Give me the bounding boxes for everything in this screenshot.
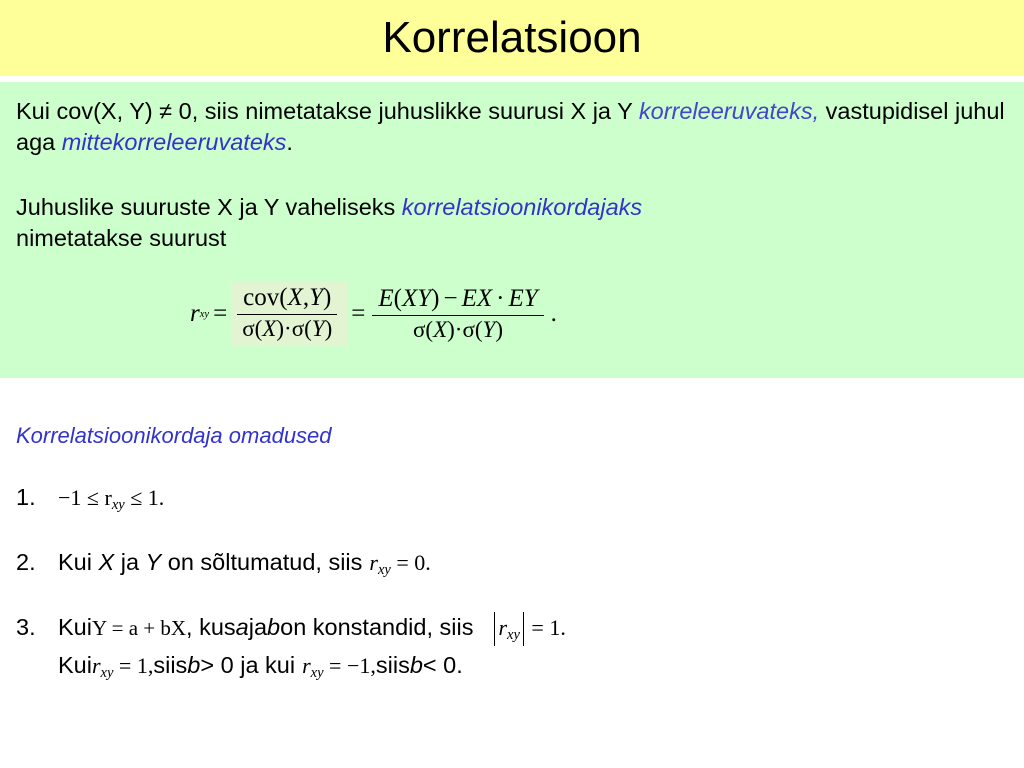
var-a: a — [236, 614, 249, 641]
text-segment: . — [286, 129, 293, 155]
page-title: Korrelatsioon — [382, 16, 641, 60]
property-item-2: 2. Kui X ja Y on sõltumatud, siis rxy = … — [16, 549, 431, 579]
var-x: X — [288, 284, 303, 311]
item-3-text-c: ja — [249, 614, 267, 641]
formula-equals-2: = — [347, 300, 369, 328]
math-tail: = −1, — [324, 653, 376, 678]
math-tail: ≤ 1. — [125, 485, 165, 510]
formula-fraction-2-numerator: E(XY)−EX·EY — [372, 285, 543, 316]
item-3b-math-a: rxy = 1, — [92, 653, 153, 682]
formula-lhs-subscript: xy — [200, 309, 209, 320]
item-1-number: 1. — [16, 484, 58, 511]
definition-block-1: Kui cov(X, Y) ≠ 0, siis nimetatakse juhu… — [0, 82, 1024, 182]
var-x: X — [433, 317, 447, 342]
emphasis-mittekorreleeruvateks: mittekorreleeruvateks — [62, 129, 287, 155]
text-segment: Juhuslike suuruste X ja Y vaheliseks — [16, 194, 402, 220]
item-2-text: Kui X ja Y on sõltumatud, siis — [58, 549, 362, 576]
formula-fraction-1: cov(X,Y) σ(X)·σ(Y) — [236, 284, 338, 342]
text-segment: siis — [153, 652, 187, 679]
title-band: Korrelatsioon — [0, 0, 1024, 76]
text-segment: nimetatakse suurust — [16, 225, 226, 251]
paren-close: ) — [323, 284, 331, 311]
sigma-symbol: σ — [462, 317, 474, 342]
math-text: −1 ≤ r — [58, 485, 112, 510]
emphasis-korrelatsioonikordajaks: korrelatsioonikordajaks — [402, 194, 642, 220]
math-subscript: xy — [378, 562, 391, 578]
text-segment: on sõltumatud, siis — [161, 549, 362, 575]
var-b: b — [267, 614, 280, 641]
not-equal-symbol: ≠ — [159, 98, 172, 124]
text-segment: ja — [114, 549, 145, 575]
math-subscript: xy — [311, 665, 324, 681]
math-tail: = 1. — [526, 615, 566, 640]
var-y: Y — [309, 284, 323, 311]
property-item-1: 1. −1 ≤ rxy ≤ 1. — [16, 484, 164, 514]
math-text: r — [92, 653, 101, 678]
text-segment: < 0. — [423, 652, 463, 679]
math-subscript: xy — [112, 497, 125, 513]
cov-label: cov( — [243, 284, 287, 311]
definition-block-2: Juhuslike suuruste X ja Y vaheliseks kor… — [0, 180, 1024, 378]
math-text: r — [369, 550, 378, 575]
definition-paragraph-2: Juhuslike suuruste X ja Y vaheliseks kor… — [0, 180, 1024, 254]
text-segment: 0, siis nimetatakse juhuslikke suurusi X… — [172, 98, 639, 124]
item-3-math-linear: Y = a + bX — [92, 616, 186, 641]
math-subscript: xy — [507, 627, 520, 643]
property-item-3-line-2: Kui rxy = 1, siis b > 0 ja kui rxy = −1,… — [58, 652, 463, 682]
item-2-number: 2. — [16, 549, 58, 576]
item-3-text-d: on konstandid, siis — [280, 614, 473, 641]
slide: Korrelatsioon Kui cov(X, Y) ≠ 0, siis ni… — [0, 0, 1024, 768]
formula-fraction-1-denominator: σ(X)·σ(Y) — [236, 315, 338, 342]
dot-operator: · — [492, 285, 508, 312]
expectation-x: EX — [462, 285, 493, 312]
formula-lhs-variable: r — [190, 300, 200, 328]
item-3-text-b: , kus — [186, 614, 236, 641]
math-text: r — [498, 615, 507, 640]
correlation-coefficient-formula: rxy = cov(X,Y) σ(X)·σ(Y) = E(XY)−EX·EY σ… — [190, 282, 557, 346]
item-3-text-a: Kui — [58, 614, 92, 641]
item-3-number: 3. — [16, 614, 58, 641]
formula-period: . — [547, 300, 557, 328]
math-subscript: xy — [101, 665, 114, 681]
absolute-value-bars: rxy — [494, 612, 523, 646]
minus-operator: − — [439, 285, 461, 312]
var-x: X — [99, 549, 115, 575]
text-segment: Kui — [58, 652, 92, 679]
definition-paragraph-1: Kui cov(X, Y) ≠ 0, siis nimetatakse juhu… — [0, 90, 1024, 158]
text-segment: siis — [376, 652, 410, 679]
var-b: b — [187, 652, 200, 679]
dot-operator: · — [284, 316, 292, 341]
emphasis-korreleeruvateks: korreleeruvateks, — [639, 98, 819, 124]
formula-fraction-1-highlight: cov(X,Y) σ(X)·σ(Y) — [231, 282, 347, 346]
text-segment: Kui — [58, 549, 99, 575]
math-tail: = 1, — [113, 653, 153, 678]
formula-fraction-1-numerator: cov(X,Y) — [237, 284, 337, 315]
formula-fraction-2-denominator: σ(X)·σ(Y) — [407, 316, 509, 343]
text-segment: Kui cov(X, Y) — [16, 98, 159, 124]
text-segment: > 0 ja kui — [200, 652, 295, 679]
var-y: Y — [483, 317, 496, 342]
sigma-symbol: σ — [413, 317, 425, 342]
math-text: r — [302, 653, 311, 678]
property-item-3: 3. Kui Y = a + bX , kus a ja b on konsta… — [16, 612, 566, 646]
formula-equals-1: = — [209, 300, 231, 328]
sigma-symbol: σ — [292, 316, 304, 341]
var-b: b — [410, 652, 423, 679]
expectation-symbol: E — [378, 285, 393, 312]
item-3-math-abs: rxy = 1. — [494, 612, 565, 646]
var-x: X — [262, 316, 276, 341]
formula-fraction-2: E(XY)−EX·EY σ(X)·σ(Y) — [372, 285, 543, 343]
var-xy: XY — [402, 285, 431, 312]
var-y: Y — [312, 316, 325, 341]
item-2-math: rxy = 0. — [369, 550, 430, 579]
item-1-math: −1 ≤ rxy ≤ 1. — [58, 485, 164, 514]
section-heading-properties: Korrelatsioonikordaja omadused — [16, 423, 332, 449]
var-y: Y — [146, 549, 162, 575]
item-3b-math-b: rxy = −1, — [302, 653, 376, 682]
math-tail: = 0. — [391, 550, 431, 575]
expectation-y: EY — [508, 285, 537, 312]
sigma-symbol: σ — [242, 316, 254, 341]
